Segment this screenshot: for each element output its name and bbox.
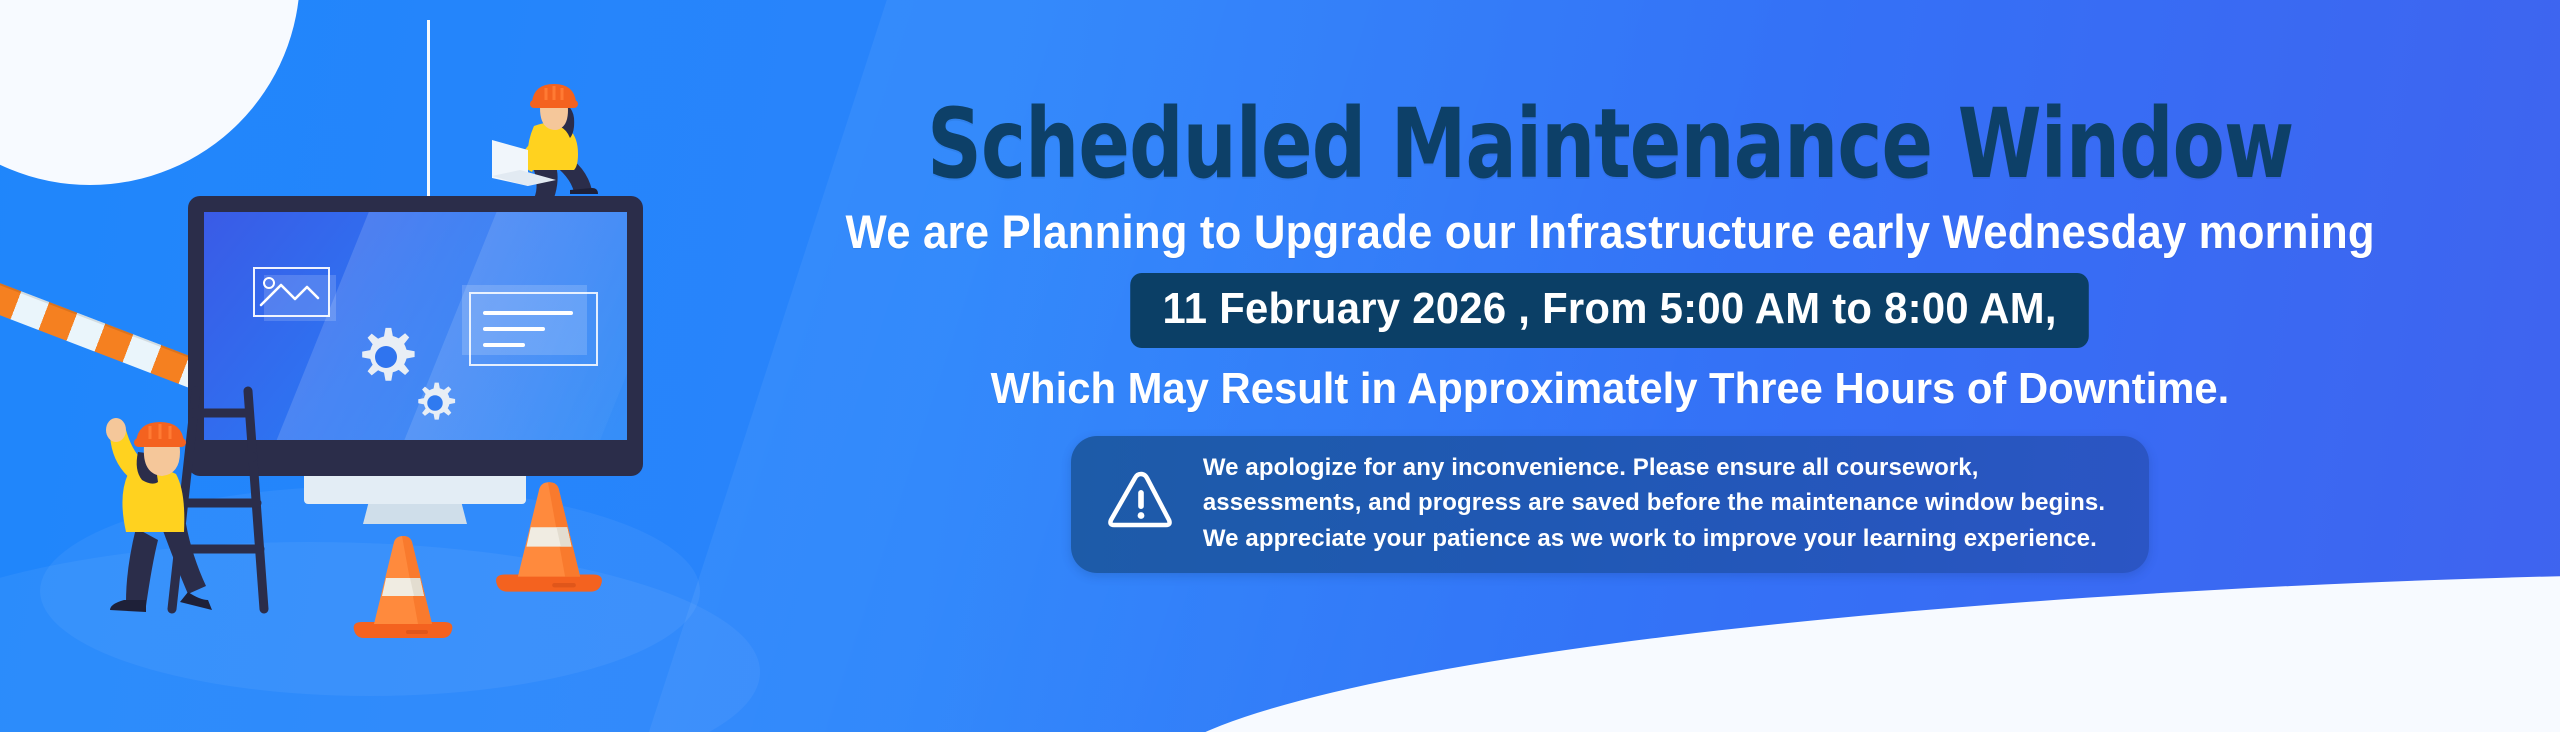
waving-worker: [92, 418, 242, 638]
apology-notice-box: We apologize for any inconvenience. Plea…: [1071, 436, 2149, 573]
image-placeholder-icon: [253, 267, 330, 317]
notice-line-3: We appreciate your patience as we work t…: [1203, 525, 2105, 553]
notice-line-1: We apologize for any inconvenience. Plea…: [1203, 454, 2105, 482]
banner-content: Scheduled Maintenance Window We are Plan…: [660, 0, 2560, 732]
maintenance-window-badge: 11 February 2026 , From 5:00 AM to 8:00 …: [1131, 273, 2090, 348]
seated-worker-with-laptop: [462, 78, 642, 209]
traffic-cone-left: [348, 534, 458, 647]
text-card-line-1: [483, 311, 573, 315]
banner-subtitle: We are Planning to Upgrade our Infrastru…: [845, 204, 2374, 259]
text-card-line-3: [483, 343, 525, 347]
maintenance-banner: Scheduled Maintenance Window We are Plan…: [0, 0, 2560, 732]
gear-small-icon: [409, 377, 461, 429]
apology-notice-text: We apologize for any inconvenience. Plea…: [1203, 454, 2105, 553]
notice-line-2: assessments, and progress are saved befo…: [1203, 489, 2105, 517]
maintenance-illustration: [0, 0, 660, 732]
traffic-cone-right: [490, 480, 608, 601]
warning-triangle-icon: [1105, 468, 1177, 539]
text-card-line-2: [483, 327, 545, 331]
page-title: Scheduled Maintenance Window: [927, 96, 2293, 192]
downtime-tagline: Which May Result in Approximately Three …: [991, 364, 2230, 414]
text-card: [469, 292, 598, 366]
